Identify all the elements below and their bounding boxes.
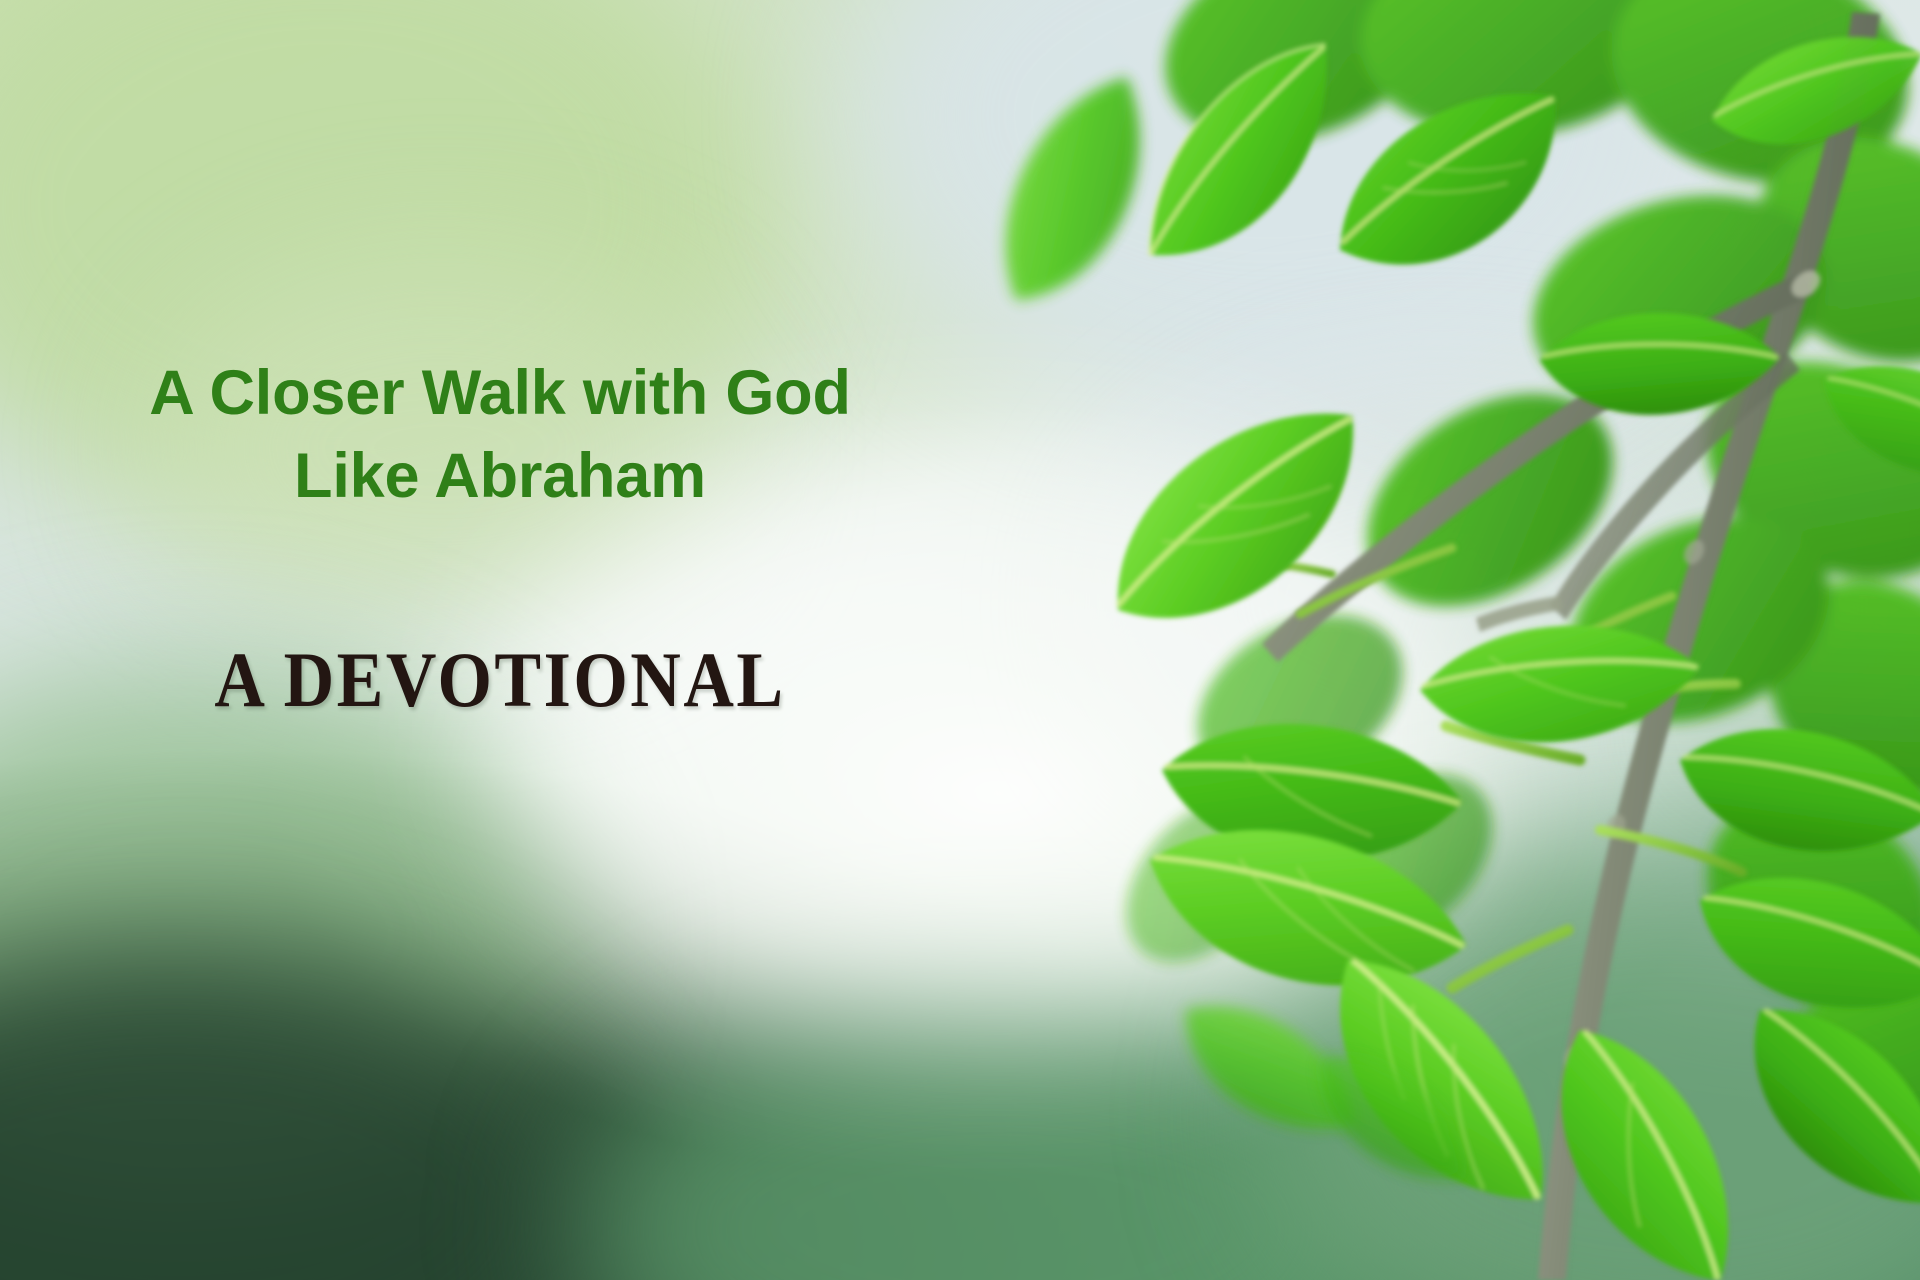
poster-subtitle: A DEVOTIONAL: [0, 642, 1000, 720]
page-title: A Closer Walk with God Like Abraham: [0, 352, 1000, 518]
poster-canvas: A Closer Walk with God Like Abraham A DE…: [0, 0, 1920, 1280]
poster-text-block: A Closer Walk with God Like Abraham A DE…: [0, 0, 1000, 1280]
